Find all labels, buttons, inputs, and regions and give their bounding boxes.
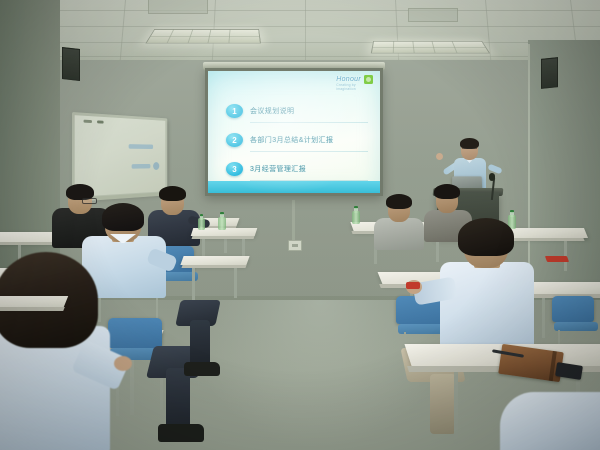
- ceiling-light-right: [371, 41, 491, 54]
- torso: [500, 392, 600, 450]
- agenda-underline: [250, 151, 368, 152]
- ceiling-vent-right: [408, 8, 458, 22]
- seated-shin-right: [430, 374, 456, 434]
- hair: [458, 218, 514, 256]
- whiteboard-marker-b: [97, 120, 104, 123]
- logo-tagline: Creating by imagination: [336, 83, 361, 91]
- hair: [434, 184, 460, 199]
- agenda-item: 1 会议规划说明: [226, 97, 370, 125]
- glasses-icon: [82, 198, 97, 204]
- agenda-underline: [250, 122, 368, 123]
- presenter-hand: [436, 153, 443, 160]
- projection-screen: Honour Creating by imagination 1 会议规划说明 …: [205, 68, 383, 196]
- green-leaf-square-icon: [364, 75, 373, 84]
- agenda-number-badge: 3: [226, 162, 243, 176]
- red-phone-in-hand: [406, 282, 420, 289]
- bottle-body: [198, 218, 205, 230]
- water-bottle-center-left: [218, 212, 226, 230]
- water-bottle-left-row: [198, 214, 205, 230]
- torso: [374, 218, 424, 250]
- whiteboard-writing-a: [129, 144, 153, 149]
- whiteboard-writing-c: [153, 162, 159, 170]
- agenda-item: 3 3月经营管理汇报: [226, 155, 370, 183]
- slide-surface: Honour Creating by imagination 1 会议规划说明 …: [208, 71, 380, 193]
- hair: [159, 186, 186, 201]
- wall-conduit: [292, 200, 295, 242]
- hair: [102, 203, 144, 231]
- hand: [114, 356, 132, 371]
- notebook-elastic-band: [549, 351, 556, 381]
- wall-speaker-right: [541, 57, 558, 89]
- agenda-item-label: 3月经营管理汇报: [250, 164, 306, 174]
- microphone-icon: [489, 173, 495, 181]
- agenda-number-badge: 1: [226, 104, 243, 118]
- agenda-item-label: 各部门3月总结&计划汇报: [250, 135, 333, 145]
- power-outlet: [288, 240, 302, 251]
- whiteboard-marker-a: [83, 120, 92, 123]
- shoe-back-left: [184, 362, 220, 376]
- slide-logo: Honour Creating by imagination: [336, 75, 373, 84]
- agenda-number-badge: 2: [226, 133, 243, 147]
- torso: [440, 262, 534, 354]
- ceiling-light-left: [145, 29, 261, 43]
- slide-footer-bar: [208, 181, 380, 193]
- water-bottle-center-right: [352, 206, 360, 224]
- phone-on-desk: [545, 256, 569, 262]
- agenda-item: 2 各部门3月总结&计划汇报: [226, 126, 370, 154]
- slide-agenda-list: 1 会议规划说明 2 各部门3月总结&计划汇报 3 3月经营管理汇报: [226, 97, 370, 184]
- ceiling-vent-left: [148, 0, 208, 14]
- logo-text: Honour: [336, 76, 361, 83]
- agenda-item-label: 会议规划说明: [250, 106, 294, 116]
- hair: [386, 194, 412, 209]
- wall-speaker-left: [62, 47, 80, 81]
- bottle-body: [218, 217, 226, 230]
- glasses-icon: [462, 148, 477, 152]
- meeting-room-photo: Honour Creating by imagination 1 会议规划说明 …: [0, 0, 600, 450]
- whiteboard-writing-b: [132, 164, 151, 169]
- bottle-body: [352, 211, 360, 224]
- shoe-left: [158, 424, 204, 442]
